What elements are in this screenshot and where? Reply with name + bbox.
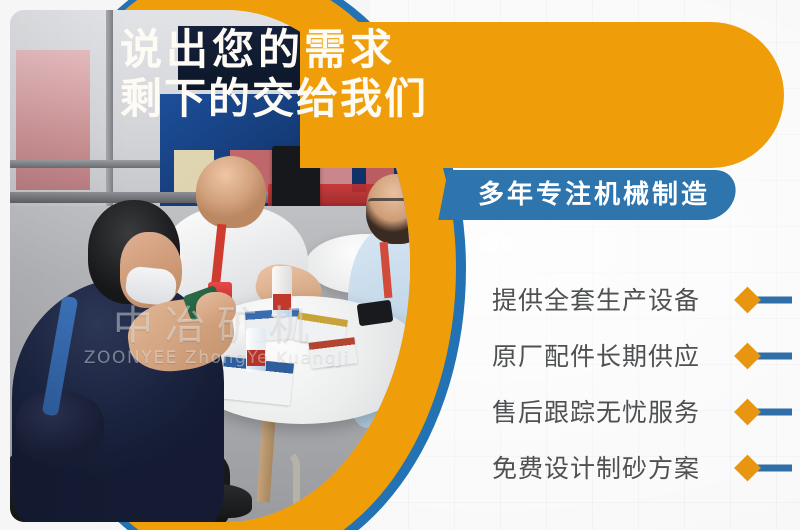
promo-banner: 中冶矿机 ZOONYEE ZhongYe KuangJi 说出您的需求 剩下的交… (0, 0, 800, 530)
feature-label: 提供全套生产设备 (492, 288, 700, 313)
diamond-icon (734, 343, 761, 370)
headline-line-2: 剩下的交给我们 (120, 75, 480, 124)
headline-line-1: 说出您的需求 (120, 26, 480, 75)
feature-item: 提供全套生产设备 (492, 272, 792, 328)
headline-text-group: 说出您的需求 剩下的交给我们 (120, 26, 480, 123)
feature-label: 售后跟踪无忧服务 (492, 400, 700, 425)
feature-marker (738, 459, 792, 478)
diamond-icon (734, 399, 761, 426)
feature-item: 售后跟踪无忧服务 (492, 384, 792, 440)
feature-marker (738, 347, 792, 366)
feature-label: 免费设计制砂方案 (492, 456, 700, 481)
feature-marker (738, 291, 792, 310)
diamond-icon (734, 455, 761, 482)
feature-list: 提供全套生产设备 原厂配件长期供应 售后跟踪无忧服务 免费设计制砂方案 (492, 272, 792, 496)
subtitle-label: 多年专注机械制造 (478, 180, 738, 210)
feature-item: 免费设计制砂方案 (492, 440, 792, 496)
feature-item: 原厂配件长期供应 (492, 328, 792, 384)
feature-label: 原厂配件长期供应 (492, 344, 700, 369)
diamond-icon (734, 287, 761, 314)
feature-marker (738, 403, 792, 422)
